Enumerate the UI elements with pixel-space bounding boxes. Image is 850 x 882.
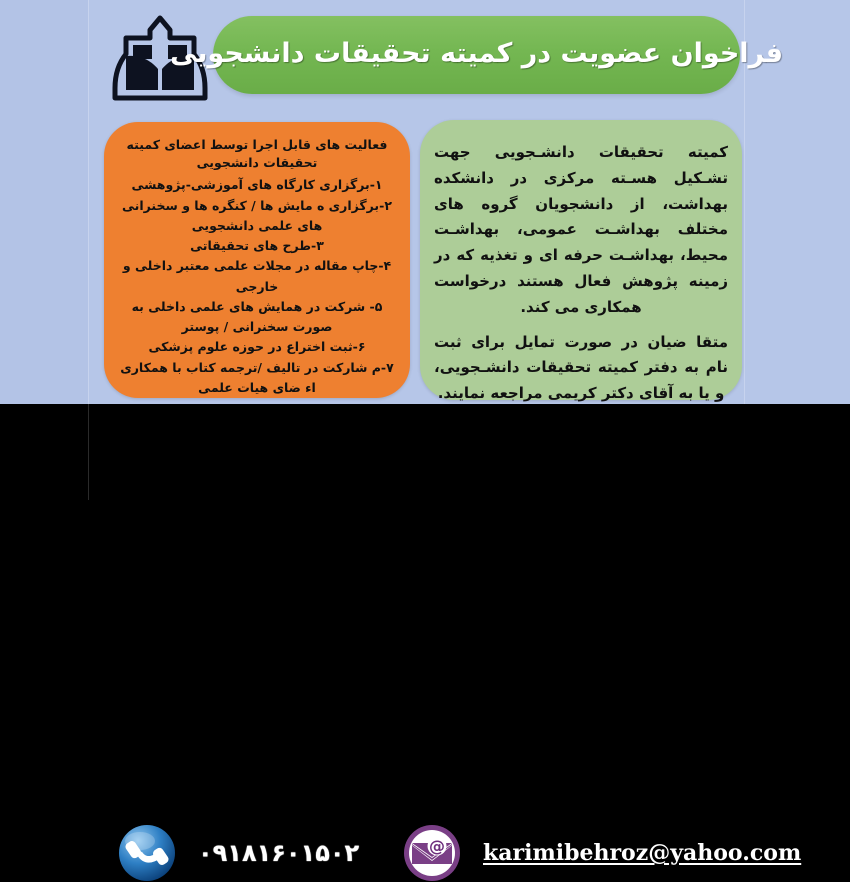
poster-canvas: فراخوان عضویت در کمیته تحقیقات دانشجویی … <box>0 0 850 500</box>
left-margin-strip <box>0 0 89 404</box>
phone-number: ۰۹۱۸۱۶۰۱۵۰۲ <box>198 839 359 867</box>
svg-text:@: @ <box>429 837 445 856</box>
list-item: ۵- شرکت در همایش های علمی داخلی به صورت … <box>114 297 400 338</box>
contact-bar: ۰۹۱۸۱۶۰۱۵۰۲ @ karimib <box>0 404 850 500</box>
list-item: ۷-م شارکت در تالیف /ترجمه کتاب با همکاری… <box>114 358 400 399</box>
contact-bar-divider <box>88 404 89 500</box>
announcement-body: کمیته تحقیقات دانشـجویی جهت تشـکیل هسـته… <box>434 140 728 407</box>
page-title: فراخوان عضویت در کمیته تحقیقات دانشجویی <box>170 38 783 72</box>
activities-heading: فعالیت های قابل اجرا توسط اعضای کمیته تح… <box>114 136 400 172</box>
email-contact[interactable]: @ karimibehroz@yahoo.com <box>403 824 801 882</box>
activities-list: ۱-برگزاری کارگاه های آموزشی-پژوهشی ۲-برگ… <box>114 175 400 398</box>
list-item: ۱-برگزاری کارگاه های آموزشی-پژوهشی <box>114 175 400 195</box>
poster-body: فراخوان عضویت در کمیته تحقیقات دانشجویی … <box>0 0 850 404</box>
email-address: karimibehroz@yahoo.com <box>483 840 801 866</box>
telephone-icon <box>118 824 176 882</box>
list-item: ۶-ثبت اختراع در حوزه علوم پزشکی <box>114 337 400 357</box>
list-item: ۳-طرح های تحقیقاتی <box>114 236 400 256</box>
poster-title-banner: فراخوان عضویت در کمیته تحقیقات دانشجویی <box>213 16 740 94</box>
announcement-panel: کمیته تحقیقات دانشـجویی جهت تشـکیل هسـته… <box>420 120 742 400</box>
announcement-paragraph: کمیته تحقیقات دانشـجویی جهت تشـکیل هسـته… <box>434 140 728 321</box>
phone-contact[interactable]: ۰۹۱۸۱۶۰۱۵۰۲ <box>118 824 359 882</box>
envelope-at-icon: @ <box>403 824 461 882</box>
list-item: ۴-چاپ مقاله در مجلات علمی معتبر داخلی و … <box>114 256 400 297</box>
announcement-paragraph: متقا ضیان در صورت تمایل برای ثبت نام به … <box>434 330 728 407</box>
activities-panel: فعالیت های قابل اجرا توسط اعضای کمیته تح… <box>104 122 410 398</box>
list-item: ۲-برگزاری ه مایش ها / کنگره ها و سخنرانی… <box>114 196 400 237</box>
